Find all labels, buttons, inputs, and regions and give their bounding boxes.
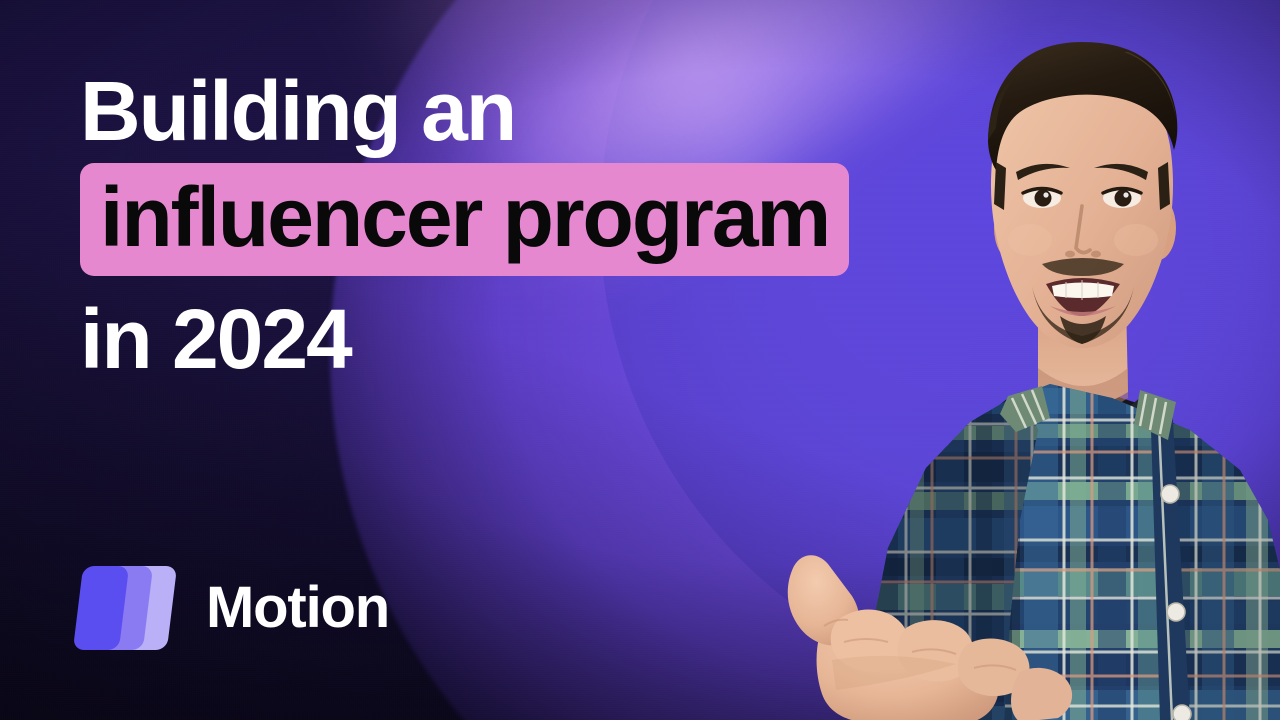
headline-line-3: in 2024 [80, 296, 940, 383]
headline: Building an influencer program in 2024 [80, 68, 940, 384]
headline-highlight-row: influencer program [80, 163, 940, 276]
video-thumbnail: Building an influencer program in 2024 M… [0, 0, 1280, 720]
headline-line-1: Building an [80, 68, 940, 155]
motion-cards-logo-icon [76, 562, 184, 654]
brand-name: Motion [206, 579, 389, 637]
brand-logo-lockup: Motion [76, 562, 389, 654]
headline-highlighted-text: influencer program [80, 163, 849, 276]
